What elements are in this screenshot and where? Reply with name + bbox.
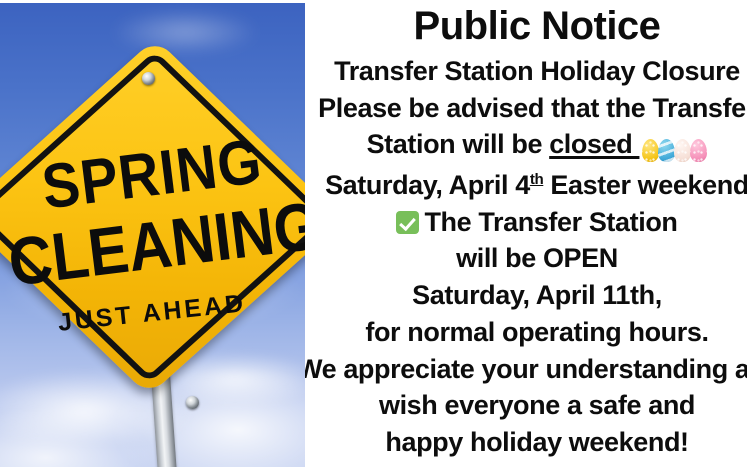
notice-line-advised: Please be advised that the Transfer [305, 90, 747, 127]
egg-blue-striped-icon [658, 139, 675, 162]
notice-line-closed: Station will be closed [305, 126, 747, 167]
closed-date-pre: Saturday, April 4 [325, 170, 530, 200]
notice-line-open-date: Saturday, April 11th, [305, 277, 747, 314]
egg-yellow-dotted-icon [642, 139, 659, 162]
closed-emphasis: closed [549, 129, 639, 159]
road-sign: SPRING CLEANING JUST AHEAD [8, 21, 296, 413]
ordinal-suffix: th [530, 171, 543, 188]
notice-line-open-head: The Transfer Station [305, 204, 747, 241]
page-title: Public Notice [305, 4, 747, 49]
notice-text-panel: Public Notice Transfer Station Holiday C… [305, 0, 747, 467]
notice-line-hours: for normal operating hours. [305, 314, 747, 351]
sign-bolt-bottom-icon [186, 396, 199, 409]
egg-cream-dotted-icon [674, 139, 691, 162]
white-check-mark-icon [396, 211, 419, 234]
spring-cleaning-sign-photo: SPRING CLEANING JUST AHEAD [0, 3, 305, 467]
notice-line-thanks-1: We appreciate your understanding and [305, 351, 747, 388]
notice-line-thanks-2: wish everyone a safe and [305, 387, 747, 424]
notice-subtitle: Transfer Station Holiday Closure [305, 53, 747, 90]
notice-line-thanks-3: happy holiday weekend! [305, 424, 747, 461]
public-notice-poster: SPRING CLEANING JUST AHEAD Public Notice… [0, 0, 747, 467]
closed-date-post: Easter weekend [543, 170, 747, 200]
egg-pink-dotted-icon [690, 139, 707, 162]
open-head-text: The Transfer Station [424, 207, 677, 237]
notice-line-open-status: will be OPEN [305, 240, 747, 277]
notice-line-closed-date: Saturday, April 4th Easter weekend [305, 167, 747, 204]
easter-egg-emoji-group [643, 130, 707, 167]
sign-bolt-top-icon [142, 72, 155, 85]
closed-prefix: Station will be [367, 129, 550, 159]
